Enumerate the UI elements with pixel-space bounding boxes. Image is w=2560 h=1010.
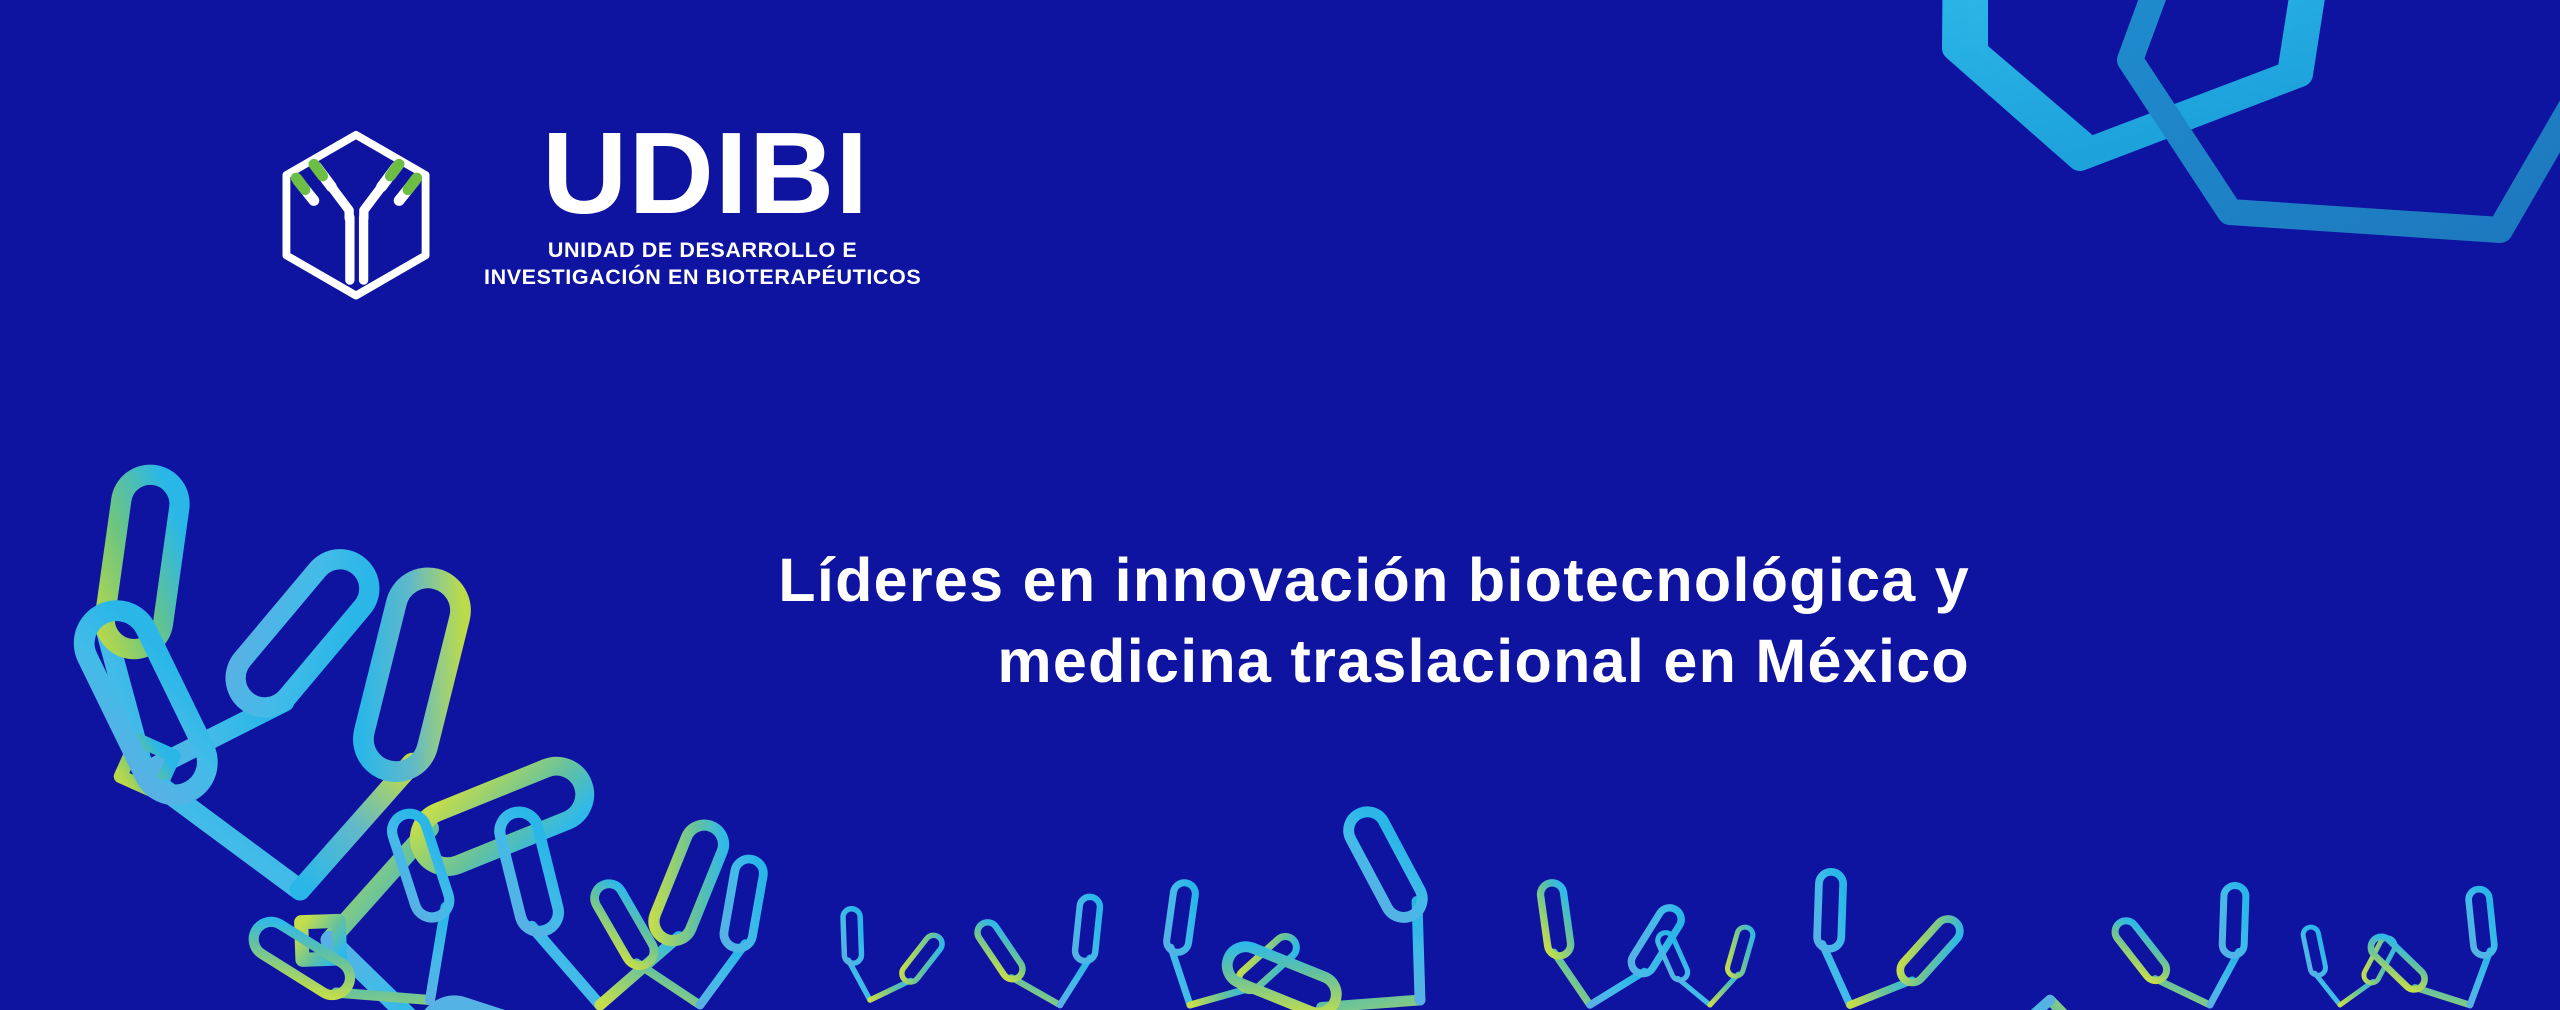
logo-wordmark: UDIBI [542, 120, 869, 227]
logo-tagline-line-1: UNIDAD DE DESARROLLO E [484, 237, 921, 265]
hero-headline-line-1: Líderes en innovación biotecnológica y [560, 540, 1970, 621]
hero-headline-line-2: medicina traslacional en México [560, 621, 1970, 702]
logo-tagline-line-2: INVESTIGACIÓN EN BIOTERAPÉUTICOS [484, 264, 921, 292]
udibi-logo-lockup[interactable]: UDIBI UNIDAD DE DESARROLLO E INVESTIGACI… [258, 118, 921, 324]
hero-headline: Líderes en innovación biotecnológica y m… [560, 540, 1970, 701]
logo-tagline: UNIDAD DE DESARROLLO E INVESTIGACIÓN EN … [484, 237, 921, 292]
udibi-hero-banner: UDIBI UNIDAD DE DESARROLLO E INVESTIGACI… [0, 0, 2560, 1010]
logo-text-group: UDIBI UNIDAD DE DESARROLLO E INVESTIGACI… [484, 118, 921, 292]
antibody-hexagon-icon [258, 128, 454, 324]
